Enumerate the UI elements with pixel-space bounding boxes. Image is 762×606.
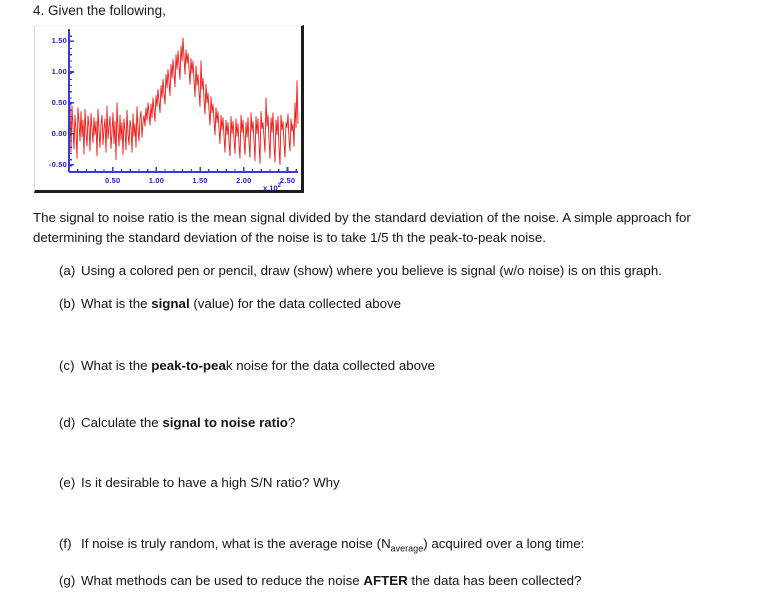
x-tick-label: 1.00 (136, 176, 176, 185)
question-text-part: the data has been collected? (408, 573, 582, 588)
question-tag: (g) (59, 571, 81, 590)
signal-noise-figure: 1.501.000.500.00-0.50 x 102 0.501.001.50… (34, 25, 304, 193)
question-text-part: ? (288, 415, 295, 430)
question-item: (b)What is the signal (value) for the da… (59, 294, 401, 313)
question-item: (g)What methods can be used to reduce th… (59, 571, 581, 590)
question-item: (d)Calculate the signal to noise ratio? (59, 413, 295, 432)
plot-area: 1.501.000.500.00-0.50 x 102 0.501.001.50… (35, 26, 302, 191)
worksheet-page: 4. Given the following, 1.501.000.500.00… (0, 0, 762, 606)
intro-paragraph: The signal to noise ratio is the mean si… (33, 208, 723, 248)
question-text-part: What is the (81, 296, 151, 311)
x-tick-label: 2.00 (224, 176, 264, 185)
x-tick-label: 1.50 (180, 176, 220, 185)
question-item: (a)Using a colored pen or pencil, draw (… (59, 261, 662, 280)
question-item: (c)What is the peak-to-peak noise for th… (59, 356, 435, 375)
question-text-part: (value) for the data collected above (190, 296, 401, 311)
data-trace-noisy-signal (69, 38, 298, 171)
question-item: (f)If noise is truly random, what is the… (59, 534, 584, 559)
x-tick-label: 0.50 (93, 176, 133, 185)
question-tag: (a) (59, 261, 81, 280)
question-text-part: AFTER (363, 573, 407, 588)
question-text-part: k noise for the data collected above (226, 358, 435, 373)
question-text-part: signal (151, 296, 189, 311)
question-text-part: If noise is truly random, what is the av… (81, 536, 391, 551)
question-text-part: What is the (81, 358, 151, 373)
question-text-part: peak-to-pea (151, 358, 226, 373)
question-text-part: Calculate the (81, 415, 162, 430)
question-text-part: Is it desirable to have a high S/N ratio… (81, 475, 340, 490)
question-tag: (d) (59, 413, 81, 432)
question-tag: (b) (59, 294, 81, 313)
question-text-part: What methods can be used to reduce the n… (81, 573, 363, 588)
page-heading: 4. Given the following, (33, 2, 166, 20)
question-text-part: Using a colored pen or pencil, draw (sho… (81, 263, 662, 278)
question-text-part: ) acquired over a long time: (423, 536, 584, 551)
x-axis-labels: x 102 0.501.001.502.002.50 (35, 172, 302, 198)
question-tag: (c) (59, 356, 81, 375)
question-tag: (f) (59, 534, 81, 553)
question-tag: (e) (59, 473, 81, 492)
question-text-part: average (391, 544, 424, 554)
question-text-part: signal to noise ratio (162, 415, 288, 430)
x-tick-label: 2.50 (268, 176, 308, 185)
chart-canvas (35, 26, 302, 191)
question-item: (e)Is it desirable to have a high S/N ra… (59, 473, 340, 492)
